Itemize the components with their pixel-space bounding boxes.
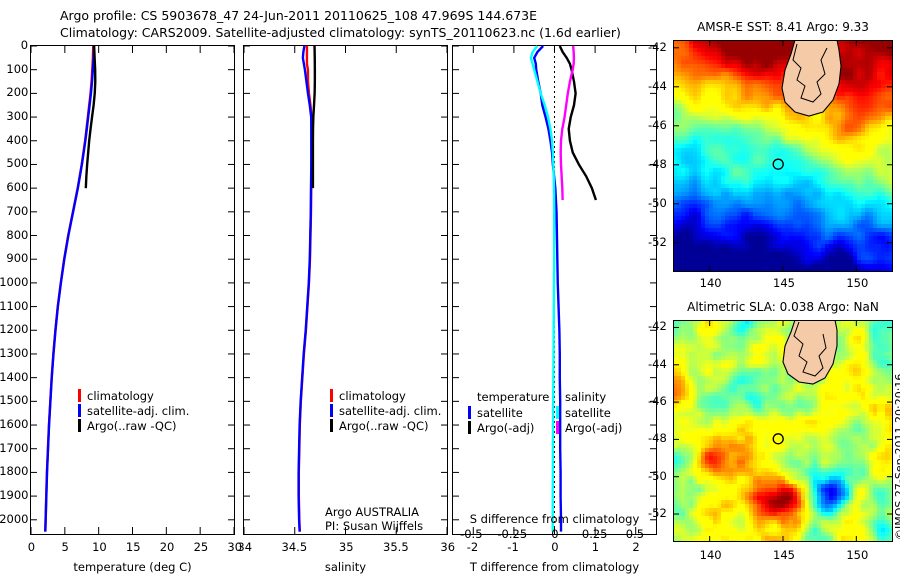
tick-label: 140	[700, 548, 722, 562]
legend-label-argo-raw: Argo(..raw -QC)	[87, 419, 177, 433]
tick-label: 0	[21, 38, 28, 52]
tick-label: 1	[592, 540, 599, 554]
tick-label: 20	[160, 540, 175, 554]
tick-label: -44	[648, 79, 667, 93]
tick-label: -42	[648, 319, 667, 333]
imos-credit: ©IMOS 27-Sep-2011 20:20:16	[893, 374, 900, 540]
salinity-difference-axis-label: S difference from climatology	[452, 512, 657, 526]
tick-label: 145	[773, 276, 795, 290]
tick-label: 1200	[0, 322, 28, 336]
legend-swatch-argo-raw	[78, 419, 81, 432]
tick-label: 1900	[0, 488, 28, 502]
tick-label: -48	[648, 431, 667, 445]
tick-label: 150	[846, 276, 868, 290]
sst-field	[673, 40, 893, 272]
sst-map	[673, 40, 893, 272]
tick-label: 600	[6, 180, 28, 194]
tick-label: 5	[62, 540, 69, 554]
tick-label: 900	[6, 251, 28, 265]
tick-label: 1600	[0, 417, 28, 431]
sla-field	[673, 320, 893, 542]
tick-label: -50	[648, 469, 667, 483]
legend-label-temperature-argo: Argo(-adj)	[477, 421, 534, 435]
temperature-legend: climatology satellite-adj. clim. Argo(..…	[78, 388, 189, 433]
tick-label: 0	[551, 527, 558, 541]
tick-label: 1100	[0, 299, 28, 313]
tick-label: 0.25	[582, 527, 608, 541]
legend-label-climatology: climatology	[339, 389, 406, 403]
tick-label: -1	[507, 540, 518, 554]
tick-label: -0.5	[460, 527, 482, 541]
tick-label: 35	[339, 540, 354, 554]
tick-label: 34	[237, 540, 252, 554]
legend-swatch-temperature-satellite	[468, 406, 471, 419]
legend-group-header-salinity: salinity	[556, 390, 636, 405]
temperature-difference-axis-label: T difference from climatology	[452, 560, 657, 574]
salinity-panel	[243, 45, 448, 535]
tick-label: 36	[440, 540, 455, 554]
legend-swatch-climatology	[330, 389, 333, 402]
tick-label: -48	[648, 157, 667, 171]
tick-label: 0	[28, 540, 35, 554]
tick-label: 150	[846, 548, 868, 562]
tick-label: 1300	[0, 346, 28, 360]
legend-swatch-salinity-argo	[556, 421, 559, 434]
principal-investigator-label: PI: Susan Wijffels	[325, 519, 423, 533]
tick-label: 0.5	[626, 527, 644, 541]
tick-label: -42	[648, 40, 667, 54]
tick-label: 1500	[0, 393, 28, 407]
salinity-axis-label: salinity	[243, 560, 448, 574]
tick-label: 25	[194, 540, 209, 554]
legend-label-satellite-adj: satellite-adj. clim.	[339, 404, 441, 418]
legend-swatch-argo-raw	[330, 419, 333, 432]
tick-label: -0.25	[497, 527, 527, 541]
figure-title-line2: Climatology: CARS2009. Satellite-adjuste…	[60, 25, 621, 40]
tick-label: -52	[648, 235, 667, 249]
tick-label: 500	[6, 156, 28, 170]
salinity-axes-frame	[244, 46, 448, 535]
tick-label: -52	[648, 506, 667, 520]
legend-label-salinity-argo: Argo(-adj)	[565, 421, 622, 435]
tick-label: -46	[648, 118, 667, 132]
sst-map-svg	[673, 40, 893, 272]
temperature-panel	[30, 45, 235, 535]
tick-label: 300	[6, 109, 28, 123]
tick-label: -50	[648, 196, 667, 210]
sst-map-title: AMSR-E SST: 8.41 Argo: 9.33	[673, 20, 893, 34]
salinity-legend: climatology satellite-adj. clim. Argo(..…	[330, 388, 441, 433]
salinity-plot-svg	[243, 45, 448, 535]
tick-label: -2	[467, 540, 478, 554]
figure-title-line1: Argo profile: CS 5903678_47 24-Jun-2011 …	[60, 8, 537, 23]
temperature-axis-label: temperature (deg C)	[30, 560, 235, 574]
tick-label: 10	[92, 540, 107, 554]
tick-label: 140	[700, 276, 722, 290]
tick-label: 1700	[0, 441, 28, 455]
legend-swatch-climatology	[78, 389, 81, 402]
tick-label: 35.5	[383, 540, 409, 554]
tick-label: 700	[6, 204, 28, 218]
difference-legend-salinity-group: salinity satellite Argo(-adj)	[556, 390, 636, 435]
tick-label: 1800	[0, 464, 28, 478]
tick-label: 2	[632, 540, 639, 554]
legend-swatch-temperature-argo	[468, 421, 471, 434]
tick-label: 400	[6, 133, 28, 147]
tick-label: 1400	[0, 370, 28, 384]
legend-swatch-salinity-satellite	[556, 406, 559, 419]
difference-plot-svg	[452, 45, 657, 535]
sla-map-svg	[673, 320, 893, 542]
sla-map	[673, 320, 893, 542]
legend-label-argo-raw: Argo(..raw -QC)	[339, 419, 429, 433]
difference-legend-temperature-group: temperature satellite Argo(-adj)	[468, 390, 556, 435]
legend-label-temperature-satellite: satellite	[477, 406, 523, 420]
legend-label-satellite-adj: satellite-adj. clim.	[87, 404, 189, 418]
difference-legend: temperature satellite Argo(-adj) salinit…	[468, 390, 636, 435]
tick-label: 0	[551, 540, 558, 554]
legend-swatch-satellite-adj	[330, 404, 333, 417]
argo-australia-label: Argo AUSTRALIA	[325, 505, 419, 519]
tick-label: -44	[648, 357, 667, 371]
legend-group-header-temperature: temperature	[468, 390, 556, 405]
tick-label: 100	[6, 62, 28, 76]
tick-label: 200	[6, 85, 28, 99]
legend-label-climatology: climatology	[87, 389, 154, 403]
tick-label: 2000	[0, 512, 28, 526]
tick-label: 800	[6, 228, 28, 242]
legend-label-salinity-satellite: satellite	[565, 406, 611, 420]
temperature-plot-svg	[30, 45, 235, 535]
difference-panel	[452, 45, 657, 535]
tick-label: 145	[773, 548, 795, 562]
legend-swatch-satellite-adj	[78, 404, 81, 417]
tick-label: -46	[648, 394, 667, 408]
tick-label: 1000	[0, 275, 28, 289]
tick-label: 15	[126, 540, 141, 554]
tick-label: 34.5	[282, 540, 308, 554]
sla-map-title: Altimetric SLA: 0.038 Argo: NaN	[673, 300, 893, 314]
